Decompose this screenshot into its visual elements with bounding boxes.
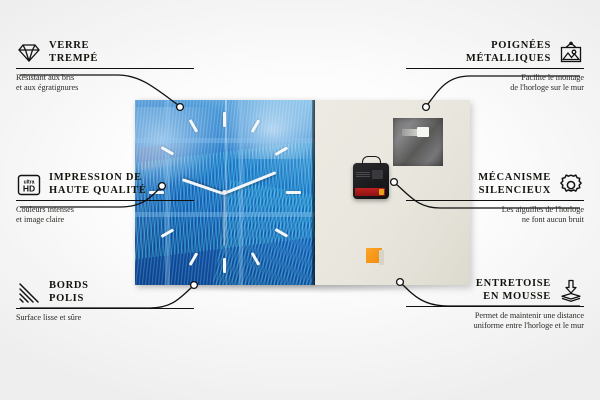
feature-title-line2: SILENCIEUX [479,185,551,196]
svg-text:HD: HD [23,183,35,193]
feature-bords-polis: BORDS POLIS Surface lisse et sûre [16,280,194,323]
feature-description: Permet de maintenir une distance uniform… [406,311,584,331]
feature-title-line1: IMPRESSION DE [49,172,142,183]
feature-title-line2: TREMPÉ [49,53,98,64]
feature-rule [16,68,194,69]
feature-title-line1: POIGNÉES [491,40,551,51]
feature-poignees-metalliques: POIGNÉES MÉTALLIQUES Facilite le montage… [406,40,584,93]
infographic-canvas: VERRE TREMPÉ Résistant aux bris et aux é… [0,0,600,400]
feature-entretoise-en-mousse: ENTRETOISE EN MOUSSE Permet de maintenir… [406,278,584,331]
feature-header: MÉCANISME SILENCIEUX [406,172,584,197]
tick-12 [223,112,226,127]
feature-rule [406,306,584,307]
foam-spacer-arrow-icon [558,279,584,303]
feature-desc-line1: Résistant aux bris [16,73,74,82]
wall-frame-hanger-icon [558,41,584,65]
feature-header: POIGNÉES MÉTALLIQUES [406,40,584,65]
feature-title: POIGNÉES MÉTALLIQUES [466,40,551,65]
feature-rule [406,68,584,69]
gear-icon [558,173,584,197]
metal-hanger-plate [393,118,443,166]
feature-mecanisme-silencieux: MÉCANISME SILENCIEUX Les aiguilles de l'… [406,172,584,225]
tick-5 [251,252,260,265]
feature-desc-line2: uniforme entre l'horloge et le mur [474,321,584,330]
feature-title-line2: POLIS [49,293,84,304]
tick-11 [189,119,198,132]
feature-desc-line1: Les aiguilles de l'horloge [502,205,584,214]
feature-title: BORDS POLIS [49,280,89,305]
hanger-slot-hole [417,127,429,137]
battery [355,188,385,196]
feature-header: VERRE TREMPÉ [16,40,194,65]
tick-3 [286,191,301,194]
feature-desc-line2: de l'horloge sur le mur [510,83,584,92]
mechanism-bail [362,156,381,166]
feature-desc-line1: Facilite le montage [521,73,584,82]
feature-title: VERRE TREMPÉ [49,40,98,65]
feature-rule [16,308,194,309]
feature-desc-line1: Permet de maintenir une distance [475,311,584,320]
feature-title-line1: BORDS [49,280,89,291]
second-hand [223,194,224,246]
feature-description: Surface lisse et sûre [16,313,194,323]
feature-title: MÉCANISME SILENCIEUX [478,172,551,197]
polished-edge-icon [16,281,42,305]
feature-title-line2: EN MOUSSE [483,291,551,302]
foam-spacer [366,248,382,263]
feature-title-line1: VERRE [49,40,89,51]
feature-desc-line2: et aux égratignures [16,83,78,92]
tick-1 [251,119,260,132]
feature-title: ENTRETOISE EN MOUSSE [476,278,551,303]
tick-2 [275,146,288,155]
feature-impression-haute-qualite: ultra HD IMPRESSION DE HAUTE QUALITÉ Cou… [16,172,194,225]
tick-6 [223,258,226,273]
feature-description: Facilite le montage de l'horloge sur le … [406,73,584,93]
feature-title-line2: HAUTE QUALITÉ [49,185,147,196]
feature-header: ENTRETOISE EN MOUSSE [406,278,584,303]
feature-verre-trempe: VERRE TREMPÉ Résistant aux bris et aux é… [16,40,194,93]
diamond-icon [16,41,42,65]
feature-title-line1: ENTRETOISE [476,278,551,289]
feature-title-line1: MÉCANISME [478,172,551,183]
feature-title: IMPRESSION DE HAUTE QUALITÉ [49,172,147,197]
feature-description: Couleurs intenses et image claire [16,205,194,225]
tick-8 [161,228,174,237]
ultra-hd-icon: ultra HD [16,173,42,197]
feature-header: BORDS POLIS [16,280,194,305]
feature-desc-line1: Couleurs intenses [16,205,74,214]
feature-rule [16,200,194,201]
feature-description: Résistant aux bris et aux égratignures [16,73,194,93]
minute-hand [223,171,276,195]
mechanism-chip [372,170,383,179]
tick-10 [161,146,174,155]
feature-description: Les aiguilles de l'horloge ne font aucun… [406,205,584,225]
feature-desc-line2: et image claire [16,215,64,224]
clock-mechanism [353,163,389,199]
feature-desc-line2: ne font aucun bruit [522,215,584,224]
tick-7 [189,252,198,265]
feature-rule [406,200,584,201]
feature-title-line2: MÉTALLIQUES [466,53,551,64]
feature-header: ultra HD IMPRESSION DE HAUTE QUALITÉ [16,172,194,197]
tick-4 [275,228,288,237]
hand-cap [222,190,227,195]
feature-desc-line1: Surface lisse et sûre [16,313,81,322]
mechanism-label [356,172,370,177]
